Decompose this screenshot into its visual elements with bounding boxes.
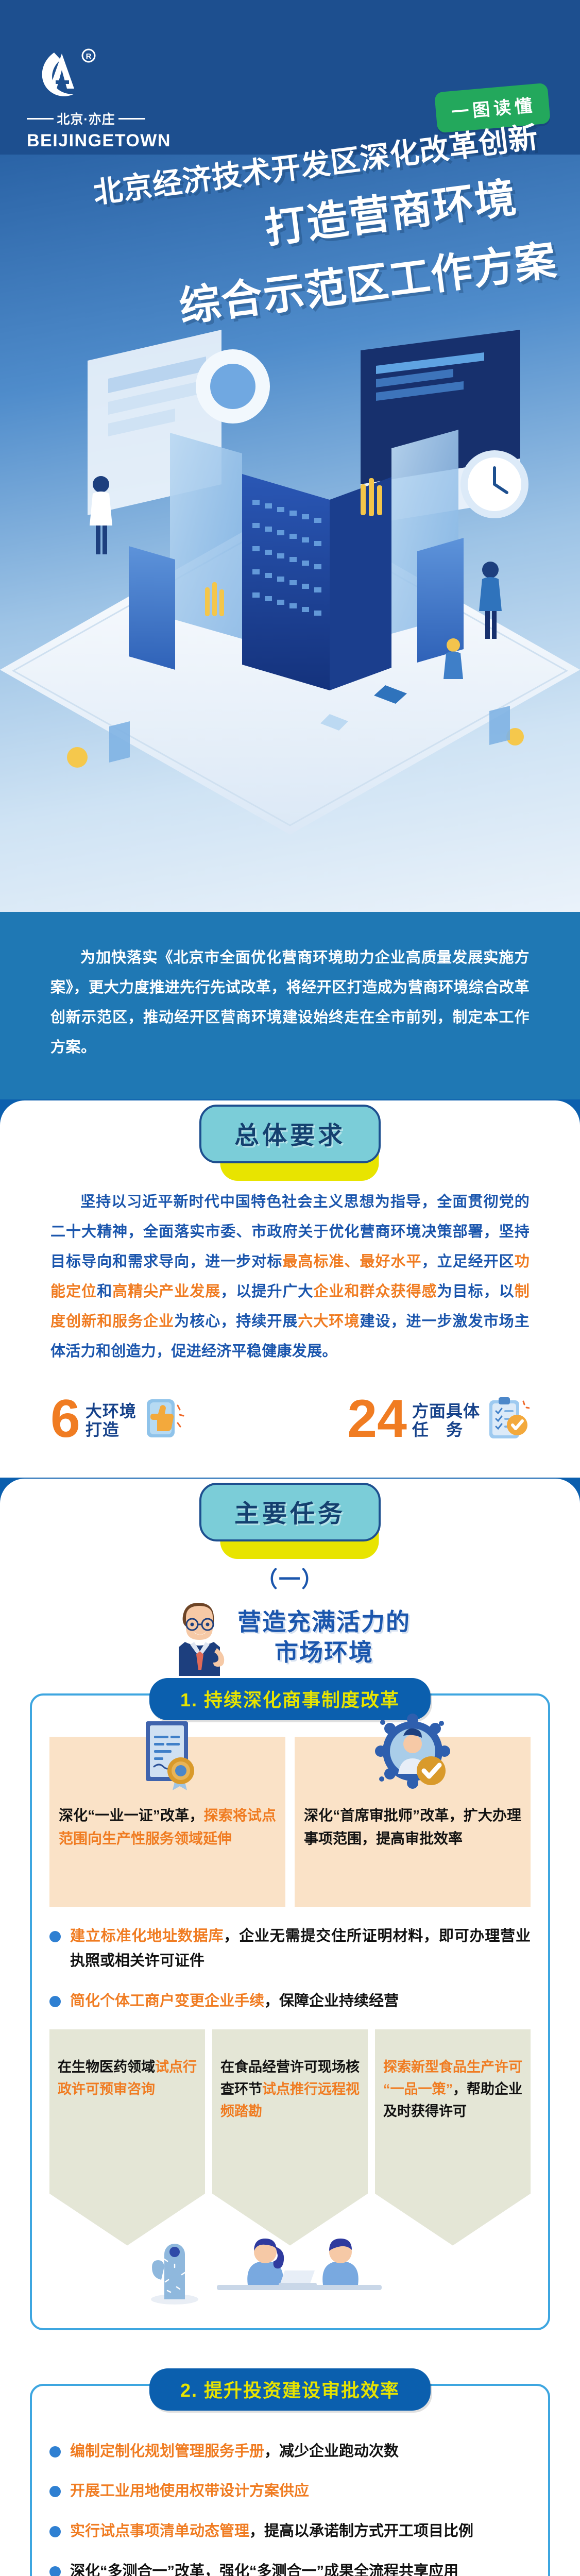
bullet-item: 编制定制化规划管理服务手册，减少企业跑动次数 (49, 2439, 531, 2464)
bullet-text: 简化个体工商户变更企业手续，保障企业持续经营 (70, 1989, 531, 2014)
stat-label-line1: 大环境 (86, 1402, 137, 1421)
bullet-dot-icon (49, 1931, 61, 1942)
bullet-dot-icon (49, 1996, 61, 2007)
overall-requirements-section: 总体要求 坚持以习近平新时代中国特色社会主义思想为指导，全面贯彻党的二十大精神，… (0, 1100, 580, 1478)
bullet-item: 深化“多测合一”改革，强化“多测合一”成果全流程共享应用 (49, 2560, 531, 2576)
chapter-title: 营造充满活力的 市场环境 (237, 1607, 411, 1668)
logo-chinese-text: 北京·亦庄 (57, 109, 115, 128)
main-tasks-section: 主要任务 （一） (0, 1479, 580, 2576)
logo-chinese-name: 北京·亦庄 (27, 109, 145, 128)
task-card: 深化“一业一证”改革，探索将试点范围向生产性服务领域延伸 (49, 1737, 285, 1907)
stat-label-line2: 任 务 (412, 1421, 480, 1439)
task-section-1: 1. 持续深化商事制度改革 (30, 1693, 550, 2330)
bullet-item: 简化个体工商户变更企业手续，保障企业持续经营 (49, 1989, 531, 2014)
approver-badge-icon (374, 1713, 451, 1801)
task-section-2-bullets: 编制定制化规划管理服务手册，减少企业跑动次数 开展工业用地使用权带设计方案供应 … (49, 2439, 531, 2576)
stat-label-line1: 方面具体 (412, 1402, 480, 1421)
desk-scene-illustration (49, 2199, 531, 2308)
intro-paragraph: 为加快落实《北京市全面优化营商环境助力企业高质量发展实施方案》，更大力度推进先行… (50, 943, 530, 1062)
bullet-item: 开展工业用地使用权带设计方案供应 (49, 2479, 531, 2504)
beijing-etown-mark-icon: R (31, 44, 93, 106)
bullet-text: 建立标准化地址数据库，企业无需提交住所证明材料，即可办理营业执照或相关许可证件 (70, 1924, 531, 1974)
bullet-dot-icon (49, 2526, 61, 2537)
main-tasks-heading-wrap: 主要任务 (0, 1479, 580, 1541)
businessman-avatar-icon (169, 1599, 230, 1676)
chapter-number: （一） (256, 1567, 324, 1591)
logo-rule-right (118, 118, 145, 120)
certificate-icon (129, 1713, 206, 1801)
svg-text:R: R (86, 52, 92, 61)
checklist-icon (485, 1395, 530, 1442)
stat-label: 方面具体 任 务 (412, 1402, 480, 1442)
bullet-text: 开展工业用地使用权带设计方案供应 (70, 2479, 531, 2504)
isometric-city-illustration (0, 330, 580, 845)
overall-stats-row: 6 大环境 打造 24 方面具体 任 (50, 1395, 530, 1442)
bullet-text: 深化“多测合一”改革，强化“多测合一”成果全流程共享应用 (70, 2560, 531, 2576)
main-tasks-heading: 主要任务 (199, 1483, 381, 1541)
chapter-header: 营造充满活力的 市场环境 (0, 1599, 580, 1676)
task-section-1-cards: 深化“一业一证”改革，探索将试点范围向生产性服务领域延伸 (49, 1737, 531, 1907)
stat-label-line2: 打造 (86, 1421, 137, 1439)
task-card-text: 深化“首席审批师”改革，扩大办理事项范围，提高审批效率 (304, 1804, 521, 1851)
stat-six-environments: 6 大环境 打造 (50, 1395, 186, 1442)
infographic-page: R 北京·亦庄 BEIJINGETOWN 一图读懂 北京经济技术开发区深化改革创… (0, 0, 580, 2576)
stat-number: 24 (347, 1396, 407, 1442)
chapter-title-line2: 市场环境 (237, 1637, 411, 1668)
bullet-text: 实行试点事项清单动态管理，提高以承诺制方式开工项目比例 (70, 2519, 531, 2544)
bullet-dot-icon (49, 2566, 61, 2576)
intro-panel: 为加快落实《北京市全面优化营商环境助力企业高质量发展实施方案》，更大力度推进先行… (0, 912, 580, 1099)
bullet-text: 编制定制化规划管理服务手册，减少企业跑动次数 (70, 2439, 531, 2464)
bullet-dot-icon (49, 2446, 61, 2458)
stat-24-tasks: 24 方面具体 任 务 (347, 1395, 530, 1442)
bullet-item: 建立标准化地址数据库，企业无需提交住所证明材料，即可办理营业执照或相关许可证件 (49, 1924, 531, 1974)
chapter-number-wrap: （一） (0, 1562, 580, 1594)
overall-heading: 总体要求 (199, 1105, 381, 1163)
task-section-1-bullets: 建立标准化地址数据库，企业无需提交住所证明材料，即可办理营业执照或相关许可证件 … (49, 1924, 531, 2014)
chapter-title-line1: 营造充满活力的 (237, 1607, 411, 1637)
brand-logo: R 北京·亦庄 BEIJINGETOWN (27, 44, 145, 151)
task-section-2: 2. 提升投资建设审批效率 编制定制化规划管理服务手册，减少企业跑动次数 开展工… (30, 2384, 550, 2576)
logo-rule-left (27, 118, 54, 120)
overall-body-text: 坚持以习近平新时代中国特色社会主义思想为指导，全面贯彻党的二十大精神，全面落实市… (50, 1187, 530, 1366)
hero-banner: R 北京·亦庄 BEIJINGETOWN 一图读懂 北京经济技术开发区深化改革创… (0, 0, 580, 912)
task-card: 深化“首席审批师”改革，扩大办理事项范围，提高审批效率 (295, 1737, 531, 1907)
task-card-text: 深化“一业一证”改革，探索将试点范围向生产性服务领域延伸 (59, 1804, 276, 1851)
bullet-item: 实行试点事项清单动态管理，提高以承诺制方式开工项目比例 (49, 2519, 531, 2544)
stat-number: 6 (50, 1396, 80, 1442)
overall-heading-wrap: 总体要求 (0, 1100, 580, 1163)
stat-label: 大环境 打造 (86, 1402, 137, 1442)
bullet-dot-icon (49, 2486, 61, 2497)
logo-english-text: BEIJINGETOWN (27, 131, 145, 151)
thumbs-up-icon (142, 1395, 186, 1442)
task-section-2-title: 2. 提升投资建设审批效率 (149, 2368, 431, 2411)
